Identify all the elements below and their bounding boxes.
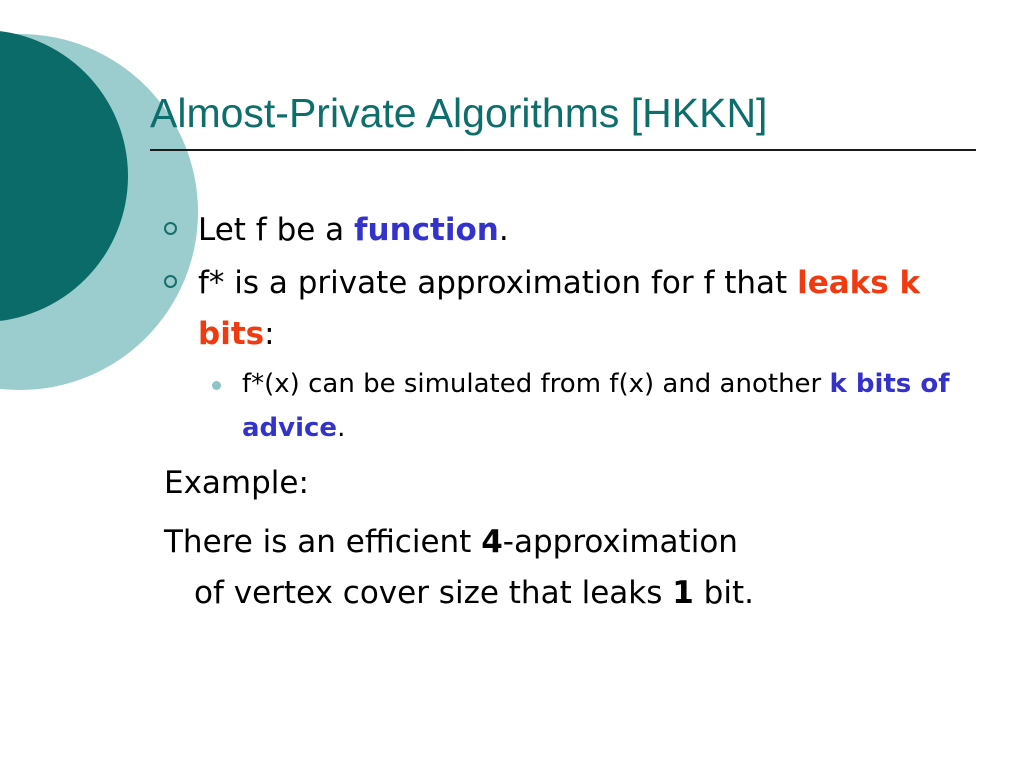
subbullet-1-run-0: f*(x) can be simulated from f(x) and ano…	[242, 369, 830, 399]
bullet-1-run-2: .	[499, 212, 509, 248]
example-body-run-1: 4	[481, 524, 503, 560]
example-body-run-3: of vertex cover size that leaks	[194, 575, 672, 611]
example-body-line-2: of vertex cover size that leaks 1 bit.	[164, 568, 954, 619]
spacer	[150, 450, 990, 458]
hollow-circle-bullet-icon	[164, 275, 177, 288]
subbullet-1-run-2: .	[337, 413, 345, 443]
hollow-circle-bullet-icon	[164, 222, 177, 235]
example-label-text: Example:	[164, 465, 309, 501]
slide-body: Let f be a function. f* is a private app…	[150, 205, 990, 619]
filled-dot-bullet-icon	[212, 381, 221, 390]
bullet-2-run-2: :	[264, 316, 274, 352]
example-body-run-0: There is an efficient	[164, 524, 481, 560]
example-body-run-2: -approximation	[503, 524, 738, 560]
example-body-run-5: bit.	[694, 575, 754, 611]
page-title: Almost-Private Algorithms [HKKN]	[150, 92, 976, 135]
title-divider	[150, 149, 976, 151]
example-body-run-4: 1	[672, 575, 694, 611]
slide-canvas: Almost-Private Algorithms [HKKN] Let f b…	[0, 0, 1024, 768]
title-block: Almost-Private Algorithms [HKKN]	[150, 92, 976, 151]
bullet-2-run-0: f* is a private approximation for f that	[198, 265, 797, 301]
list-item: f* is a private approximation for f that…	[150, 258, 968, 360]
bullet-1-run-1: function	[354, 212, 499, 248]
bullet-1-run-0: Let f be a	[198, 212, 354, 248]
spacer	[150, 509, 990, 517]
list-item: f*(x) can be simulated from f(x) and ano…	[150, 362, 990, 450]
example-label: Example:	[150, 458, 954, 509]
example-body: There is an efficient 4-approximation of…	[150, 517, 954, 619]
list-item: Let f be a function.	[150, 205, 968, 256]
